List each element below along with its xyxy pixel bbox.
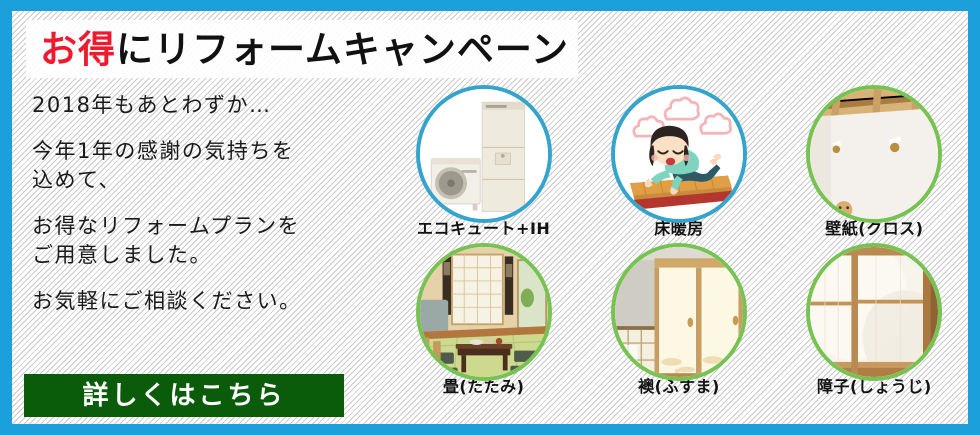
service-tile-fusuma[interactable]: 襖(ふすま) — [585, 243, 772, 396]
banner-inner-surface: お得にリフォームキャンペーン 2018年もあとわずか… 今年1年の感謝の気持ちを… — [12, 11, 968, 424]
tatami-room-icon — [420, 247, 548, 377]
shoji-icon — [810, 247, 938, 377]
service-tile-row-2: 畳(たたみ) — [390, 243, 968, 396]
eco-cute-icon — [420, 89, 548, 219]
wallpaper-icon — [810, 89, 938, 219]
service-tile-grid: エコキュート+IH — [390, 85, 968, 400]
copy-line-1: 2018年もあとわずか… — [32, 91, 387, 120]
service-tile-wallpaper[interactable]: 壁紙(クロス) — [781, 85, 968, 238]
banner-title-text: お得にリフォームキャンペーン — [40, 31, 569, 68]
floor-heating-icon — [615, 89, 743, 219]
copy-block: 2018年もあとわずか… 今年1年の感謝の気持ちを 込めて、 お得なリフォームプ… — [32, 91, 387, 331]
tatami-room-photo — [416, 243, 552, 381]
wallpaper-wall-photo — [806, 85, 942, 223]
copy-line-3: お得なリフォームプランを ご用意しました。 — [32, 212, 387, 270]
campaign-banner: お得にリフォームキャンペーン 2018年もあとわずか… 今年1年の感謝の気持ちを… — [0, 0, 980, 435]
fusuma-sliding-door-photo — [611, 243, 747, 381]
fusuma-icon — [615, 247, 743, 377]
service-tile-shoji[interactable]: 障子(しょうじ) — [781, 243, 968, 396]
shoji-screen-photo — [806, 243, 942, 381]
service-tile-floor-heating[interactable]: 床暖房 — [585, 85, 772, 238]
service-tile-tatami[interactable]: 畳(たたみ) — [390, 243, 577, 396]
floor-heating-illustration — [611, 85, 747, 223]
banner-title: お得にリフォームキャンペーン — [26, 20, 578, 78]
copy-line-2: 今年1年の感謝の気持ちを 込めて、 — [32, 137, 387, 195]
eco-cute-water-heater-photo — [416, 85, 552, 223]
copy-line-4: お気軽にご相談ください。 — [32, 287, 387, 316]
details-cta-label: 詳しくはこちら — [82, 383, 285, 409]
banner-title-accent: お得 — [40, 28, 116, 71]
banner-title-rest: にリフォームキャンペーン — [116, 28, 569, 71]
details-cta-button[interactable]: 詳しくはこちら — [24, 374, 344, 417]
service-tile-row-1: エコキュート+IH — [390, 85, 968, 238]
service-tile-eco-cute[interactable]: エコキュート+IH — [390, 85, 577, 238]
